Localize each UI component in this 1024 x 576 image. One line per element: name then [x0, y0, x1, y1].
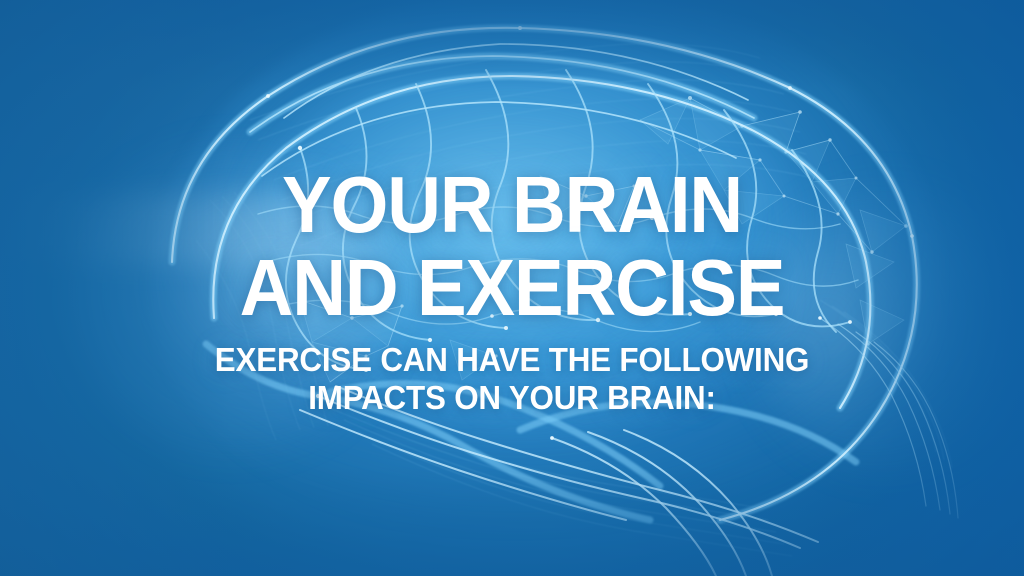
headline-line-1: YOUR BRAIN	[36, 163, 988, 246]
hero-text-block: YOUR BRAIN AND EXERCISE EXERCISE CAN HAV…	[0, 163, 1024, 417]
subheadline-line-1: EXERCISE CAN HAVE THE FOLLOWING	[26, 341, 999, 379]
hero-banner: YOUR BRAIN AND EXERCISE EXERCISE CAN HAV…	[0, 0, 1024, 576]
page-title: YOUR BRAIN AND EXERCISE	[36, 163, 988, 329]
subheadline-line-2: IMPACTS ON YOUR BRAIN:	[26, 379, 999, 417]
headline-line-2: AND EXERCISE	[36, 246, 988, 329]
page-subtitle: EXERCISE CAN HAVE THE FOLLOWING IMPACTS …	[26, 341, 999, 417]
